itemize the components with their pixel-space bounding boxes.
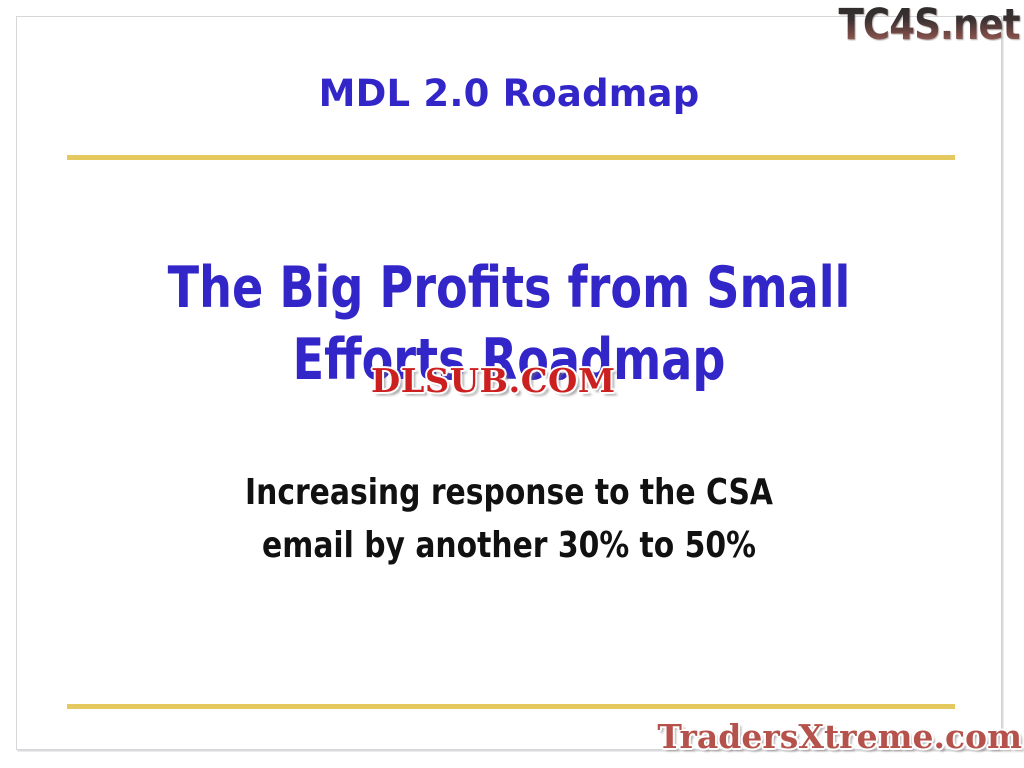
- slide-canvas: MDL 2.0 Roadmap The Big Profits from Sma…: [0, 0, 1024, 768]
- slide-title: MDL 2.0 Roadmap: [16, 72, 1002, 115]
- headline-line-1: The Big Profits from Small: [65, 252, 952, 324]
- watermark-dlsub-com: DLSUB.COM: [371, 363, 616, 399]
- body-copy-line-2: email by another 30% to 50%: [55, 519, 962, 572]
- body-copy-line-1: Increasing response to the CSA: [55, 466, 962, 519]
- watermark-tradersxtreme-com: TradersXtreme.com: [657, 718, 1022, 756]
- divider-rule-bottom: [67, 704, 955, 709]
- watermark-tc4s-net: TC4S.net: [839, 2, 1020, 48]
- divider-rule-top: [67, 155, 955, 160]
- body-copy-block: Increasing response to the CSA email by …: [55, 466, 962, 572]
